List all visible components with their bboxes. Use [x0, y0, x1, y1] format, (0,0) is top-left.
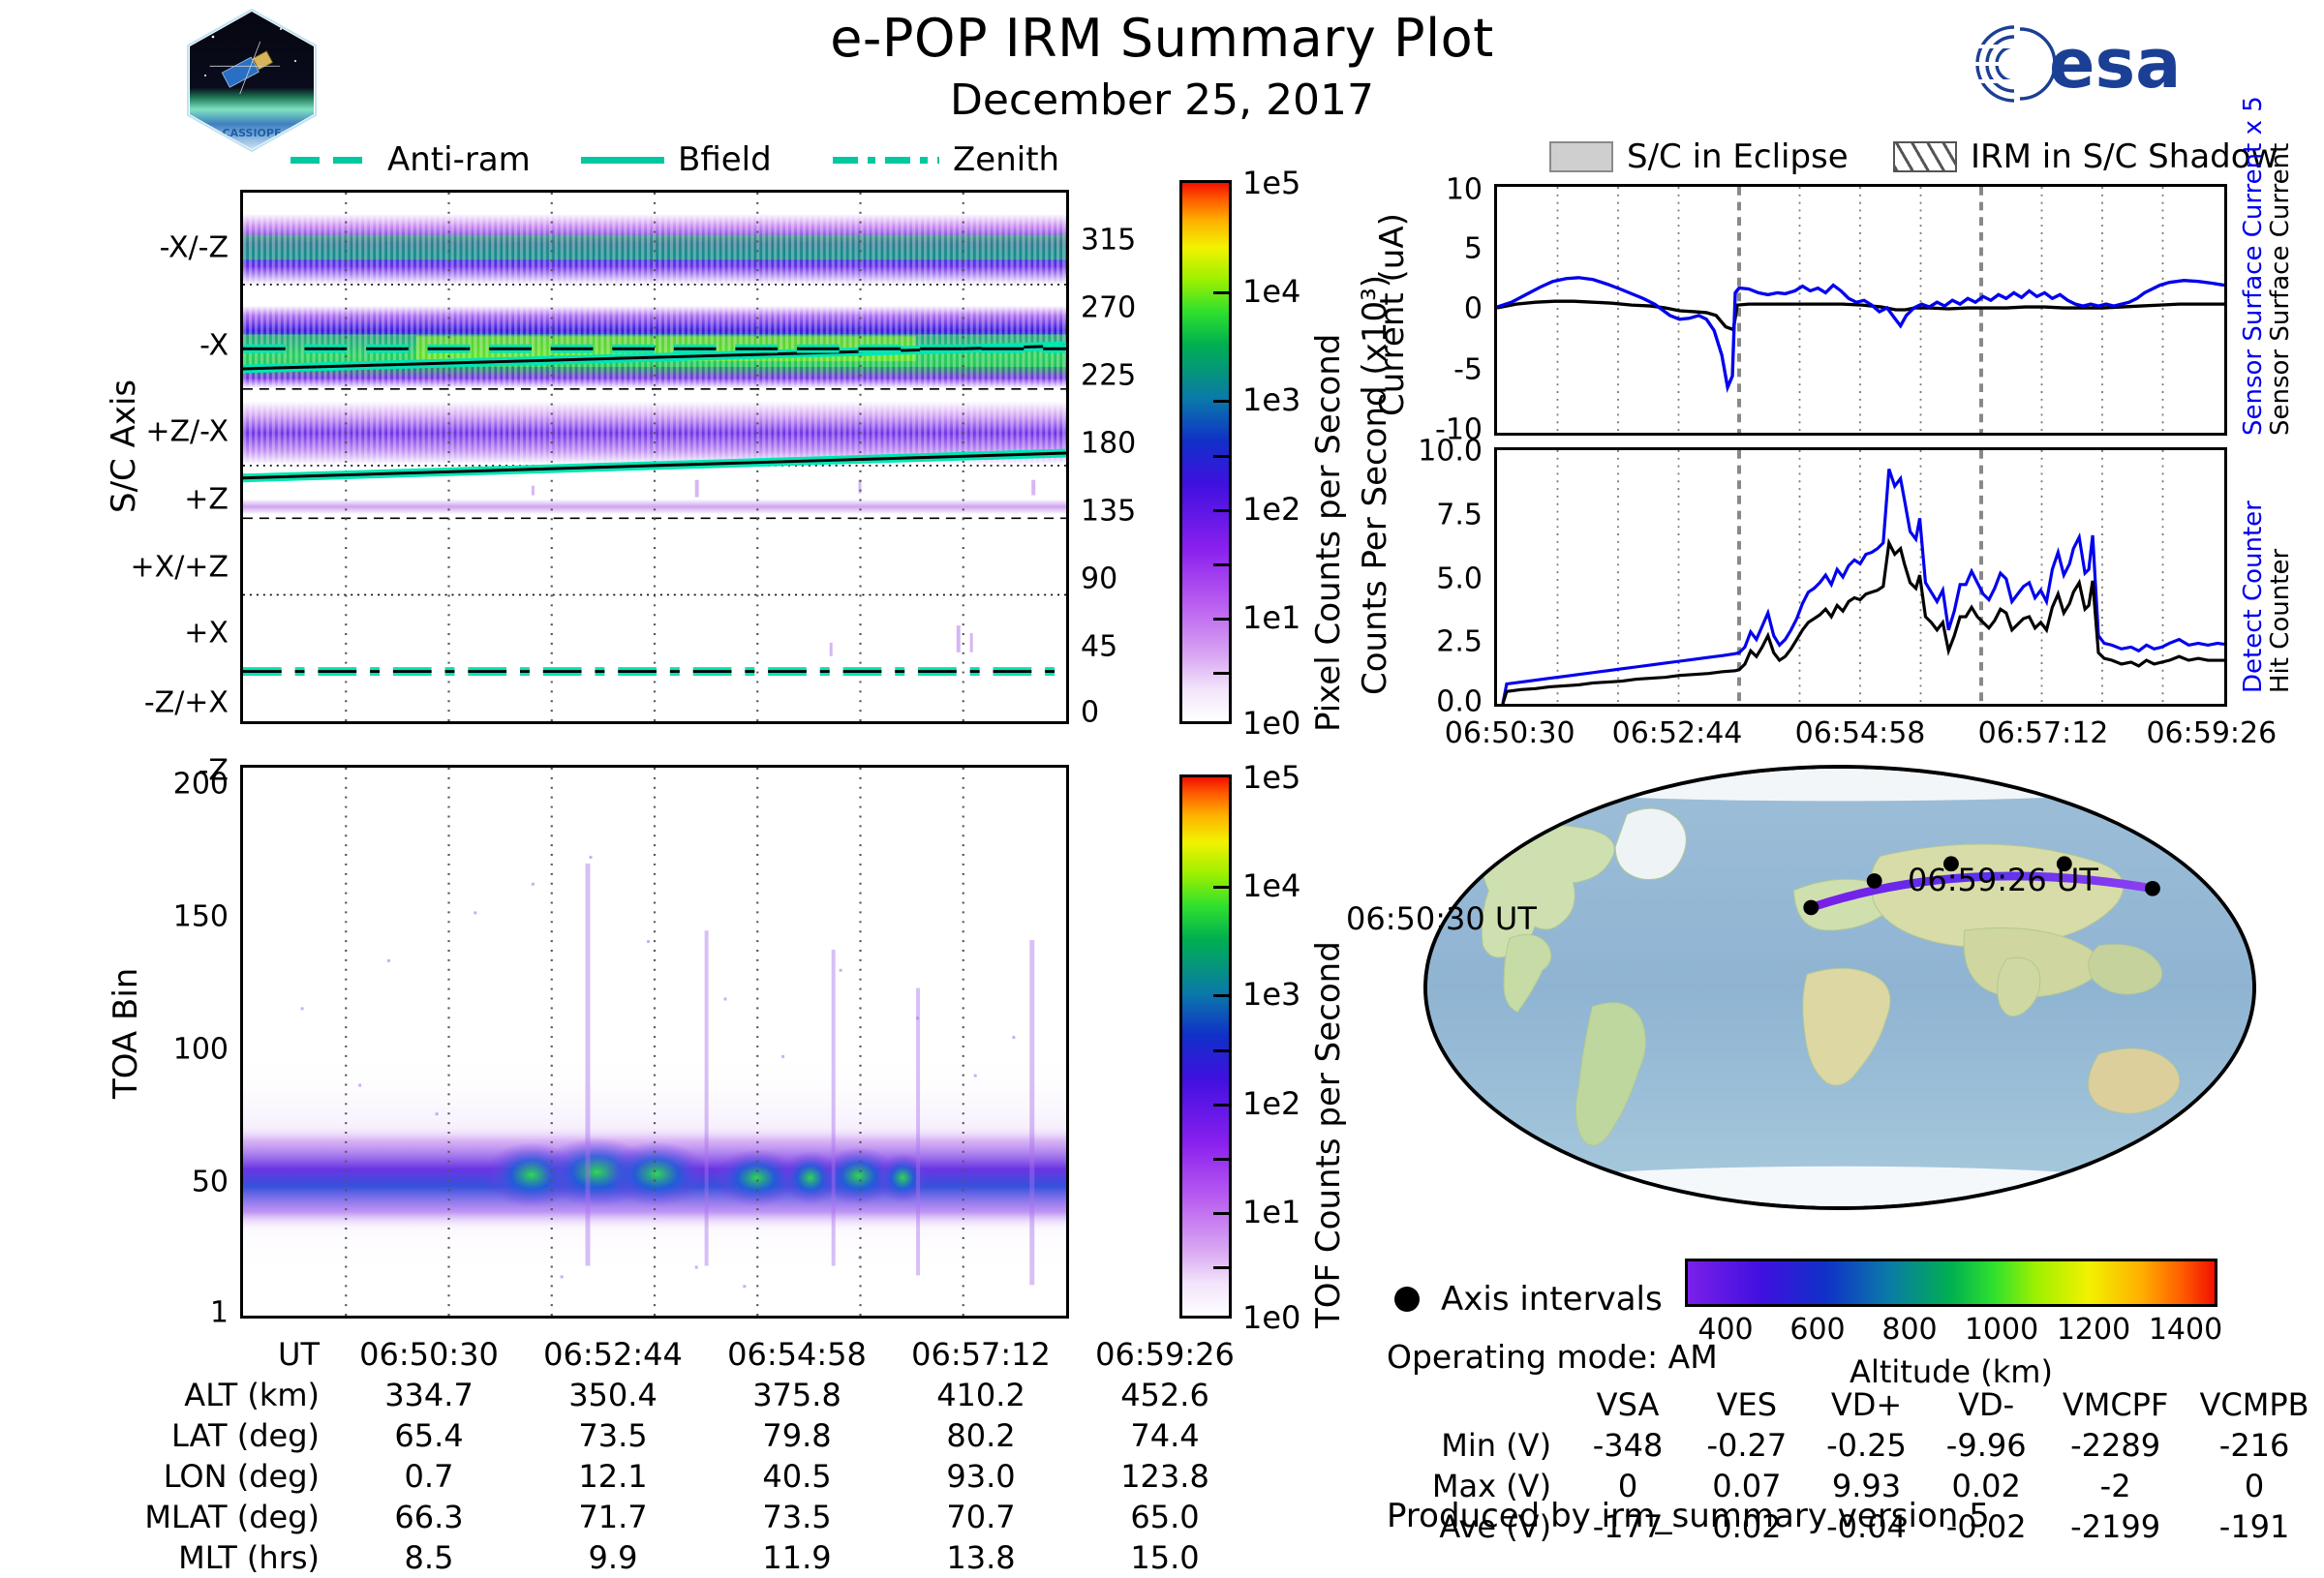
- mlat-4: 65.0: [1073, 1497, 1257, 1537]
- table-row: MLT (hrs) 8.5 9.9 11.9 13.8 15.0: [116, 1537, 1257, 1578]
- legend-label-eclipse: S/C in Eclipse: [1627, 137, 1849, 176]
- altitude-colorbar-ticks: 400 600 800 1000 1200 1400: [1685, 1313, 2217, 1351]
- alt-4: 452.6: [1073, 1375, 1257, 1415]
- pixel-cb-tick-1e5: 1e5: [1229, 165, 1300, 201]
- ut-2: 06:54:58: [705, 1334, 889, 1375]
- alt-tick-800: 800: [1881, 1313, 1937, 1347]
- dash-dot-line-icon: [833, 157, 939, 164]
- counts-right-label-blue: Detect Counter: [2239, 501, 2268, 693]
- alt-tick-400: 400: [1697, 1313, 1753, 1347]
- table-row: LON (deg) 0.7 12.1 40.5 93.0 123.8: [116, 1456, 1257, 1497]
- toa-ylabel: TOA Bin: [107, 968, 145, 1099]
- pixel-colorbar-label: Pixel Counts per Second: [1309, 334, 1348, 732]
- table-row: LAT (deg) 65.4 73.5 79.8 80.2 74.4: [116, 1415, 1257, 1456]
- lat-3: 80.2: [889, 1415, 1073, 1456]
- current-ytick-m5: -5: [1453, 353, 1494, 387]
- tof-colorbar-label: TOF Counts per Second: [1309, 941, 1348, 1328]
- pixel-angle-tick-45: 45: [1069, 630, 1117, 664]
- row-label-mlat: MLAT (deg): [116, 1497, 337, 1537]
- lat-0: 65.4: [337, 1415, 521, 1456]
- legend-axis-intervals: Axis intervals: [1394, 1280, 1663, 1319]
- alt-tick-600: 600: [1789, 1313, 1845, 1347]
- gray-swatch-icon: [1549, 141, 1613, 172]
- legend-label-anti-ram: Anti-ram: [387, 140, 531, 179]
- col-vcmpb: VCMPB: [2185, 1384, 2324, 1425]
- mlat-1: 71.7: [521, 1497, 705, 1537]
- ut-3: 06:57:12: [889, 1334, 1073, 1375]
- col-vsa: VSA: [1569, 1384, 1687, 1425]
- counts-ytick-2p5: 2.5: [1436, 625, 1494, 659]
- mlat-0: 66.3: [337, 1497, 521, 1537]
- pixel-angle-tick-180: 180: [1069, 427, 1136, 461]
- alt-1: 350.4: [521, 1375, 705, 1415]
- ave-vmcpf: -2199: [2046, 1506, 2185, 1547]
- counts-ytick-10: 10.0: [1418, 435, 1494, 469]
- toa-scatter-canvas: [243, 768, 1066, 1316]
- min-vmcpf: -2289: [2046, 1425, 2185, 1466]
- toa-ytick-100: 100: [173, 1033, 240, 1067]
- pixel-ytick-4: +X/+Z: [131, 551, 240, 585]
- pixel-ytick-1: -X: [199, 329, 240, 363]
- table-row: ALT (km) 334.7 350.4 375.8 410.2 452.6: [116, 1375, 1257, 1415]
- tof-cb-tick-1e3: 1e3: [1229, 976, 1300, 1013]
- row-label-alt: ALT (km): [116, 1375, 337, 1415]
- altitude-colorbar: [1685, 1259, 2217, 1307]
- counts-per-second-panel: 10.0 7.5 5.0 2.5 0.0 06:50:30 06:52:44 0…: [1494, 447, 2227, 707]
- pixel-cb-tick-1e4: 1e4: [1229, 273, 1300, 310]
- tof-cb-tick-1e1: 1e1: [1229, 1194, 1300, 1230]
- ave-vcmpb: -191: [2185, 1506, 2324, 1547]
- ut-1: 06:52:44: [521, 1334, 705, 1375]
- mlat-3: 70.7: [889, 1497, 1073, 1537]
- alt-3: 410.2: [889, 1375, 1073, 1415]
- lon-3: 93.0: [889, 1456, 1073, 1497]
- mlt-4: 15.0: [1073, 1537, 1257, 1578]
- lon-1: 12.1: [521, 1456, 705, 1497]
- toa-ytick-1: 1: [210, 1296, 240, 1330]
- lat-2: 79.8: [705, 1415, 889, 1456]
- current-right-label-black: Sensor Surface Current: [2266, 143, 2295, 436]
- legend-irm-shadow: IRM in S/C Shadow: [1893, 137, 2278, 176]
- mlt-2: 11.9: [705, 1537, 889, 1578]
- dashed-line-icon: [290, 157, 374, 164]
- counts-xtick-3: 06:57:12: [1978, 707, 2109, 750]
- legend-label-shadow: IRM in S/C Shadow: [1971, 137, 2278, 176]
- counts-right-label-black: Hit Counter: [2266, 549, 2295, 693]
- dot-marker-icon: [1394, 1287, 1420, 1312]
- current-ytick-0: 0: [1464, 292, 1494, 326]
- toa-ytick-50: 50: [192, 1166, 240, 1199]
- pixel-ylabel-left: S/C Axis: [105, 379, 143, 513]
- current-right-label-blue: Sensor Surface Current x 5: [2239, 96, 2268, 436]
- min-vdminus: -9.96: [1926, 1425, 2046, 1466]
- tof-cb-tick-1e4: 1e4: [1229, 867, 1300, 904]
- mlt-3: 13.8: [889, 1537, 1073, 1578]
- solid-line-icon: [581, 157, 664, 164]
- pixel-angle-tick-135: 135: [1069, 495, 1136, 529]
- tof-cb-tick-1e0: 1e0: [1229, 1299, 1300, 1336]
- counts-xtick-2: 06:54:58: [1795, 707, 1926, 750]
- max-vcmpb: 0: [2185, 1466, 2324, 1506]
- min-vdplus: -0.25: [1807, 1425, 1927, 1466]
- mlat-2: 73.5: [705, 1497, 889, 1537]
- toa-ytick-200: 200: [173, 768, 240, 802]
- legend-anti-ram: Anti-ram: [290, 140, 531, 179]
- tof-cb-tick-1e2: 1e2: [1229, 1085, 1300, 1122]
- pixel-ytick-2: +Z/-X: [145, 415, 240, 449]
- pixel-ytick-5: +X: [184, 617, 240, 651]
- counts-xtick-0: 06:50:30: [1445, 707, 1575, 750]
- pixel-cb-tick-1e1: 1e1: [1229, 599, 1300, 636]
- legend-label-bfield: Bfield: [678, 140, 772, 179]
- min-ves: -0.27: [1687, 1425, 1807, 1466]
- lon-2: 40.5: [705, 1456, 889, 1497]
- tof-cb-tick-1e5: 1e5: [1229, 759, 1300, 796]
- pixel-angle-tick-90: 90: [1069, 562, 1117, 596]
- pixel-angle-tick-225: 225: [1069, 359, 1136, 393]
- map-start-time-label: 06:50:30 UT: [1346, 900, 1537, 937]
- pixel-counts-colorbar: 1e5 1e4 1e3 1e2 1e1 1e0: [1179, 180, 1232, 724]
- pixel-ytick-0: -X/-Z: [160, 231, 240, 265]
- col-vdplus: VD+: [1807, 1384, 1927, 1425]
- alt-tick-1400: 1400: [2149, 1313, 2222, 1347]
- sensor-current-panel: 10 5 0 -5 -10: [1494, 184, 2227, 436]
- max-vmcpf: -2: [2046, 1466, 2185, 1506]
- footer-produced-by: Produced by irm_summary version 5: [1387, 1497, 1990, 1535]
- col-ves: VES: [1687, 1384, 1807, 1425]
- current-trace-canvas: [1497, 187, 2224, 433]
- lon-0: 0.7: [337, 1456, 521, 1497]
- ut-0: 06:50:30: [337, 1334, 521, 1375]
- ephemeris-table: UT 06:50:30 06:52:44 06:54:58 06:57:12 0…: [116, 1334, 1257, 1578]
- row-label-mlt: MLT (hrs): [116, 1537, 337, 1578]
- lat-1: 73.5: [521, 1415, 705, 1456]
- toa-ytick-150: 150: [173, 900, 240, 934]
- orbit-ground-track-map: 06:50:30 UT 06:59:26 UT: [1423, 765, 2256, 1210]
- legend-zenith: Zenith: [833, 140, 1059, 179]
- counts-trace-canvas: [1497, 450, 2224, 704]
- world-map-canvas: [1427, 769, 2252, 1206]
- alt-0: 334.7: [337, 1375, 521, 1415]
- counts-xtick-1: 06:52:44: [1612, 707, 1743, 750]
- row-label-lon: LON (deg): [116, 1456, 337, 1497]
- legend-label-zenith: Zenith: [953, 140, 1059, 179]
- table-row: UT 06:50:30 06:52:44 06:54:58 06:57:12 0…: [116, 1334, 1257, 1375]
- operating-mode-label: Operating mode: AM: [1387, 1338, 1718, 1376]
- pixel-cb-tick-1e3: 1e3: [1229, 381, 1300, 418]
- pixel-cb-tick-1e0: 1e0: [1229, 705, 1300, 742]
- min-vsa: -348: [1569, 1425, 1687, 1466]
- tof-counts-colorbar: 1e5 1e4 1e3 1e2 1e1 1e0: [1179, 774, 1232, 1319]
- pixel-heatmap-canvas: [243, 193, 1066, 721]
- cassiope-mission-patch-icon: CASSIOPE: [184, 8, 320, 153]
- counts-xtick-4: 06:59:26: [2146, 707, 2277, 750]
- current-ytick-5: 5: [1464, 232, 1494, 266]
- col-vmcpf: VMCPF: [2046, 1384, 2185, 1425]
- lat-4: 74.4: [1073, 1415, 1257, 1456]
- table-header-row: VSA VES VD+ VD- VMCPF VCMPB: [1385, 1384, 2324, 1425]
- hatched-swatch-icon: [1893, 141, 1957, 172]
- lon-4: 123.8: [1073, 1456, 1257, 1497]
- table-row: Min (V) -348 -0.27 -0.25 -9.96 -2289 -21…: [1385, 1425, 2324, 1466]
- legend-sc-eclipse: S/C in Eclipse: [1549, 137, 1849, 176]
- alt-2: 375.8: [705, 1375, 889, 1415]
- pixel-angle-tick-315: 315: [1069, 224, 1136, 258]
- alt-tick-1000: 1000: [1965, 1313, 2038, 1347]
- mlt-1: 9.9: [521, 1537, 705, 1578]
- counts-ytick-7p5: 7.5: [1436, 499, 1494, 532]
- pixel-counts-panel: -X/-Z -X +Z/-X +Z +X/+Z +X -Z/+X -Z 315 …: [240, 190, 1069, 724]
- row-label-ut: UT: [116, 1334, 337, 1375]
- pixel-ytick-6: -Z/+X: [144, 686, 240, 720]
- legend-bfield: Bfield: [581, 140, 772, 179]
- row-label-lat: LAT (deg): [116, 1415, 337, 1456]
- svg-text:esa: esa: [2049, 24, 2181, 104]
- pixel-cb-tick-1e2: 1e2: [1229, 491, 1300, 528]
- pixel-angle-tick-0: 0: [1069, 696, 1099, 730]
- ut-4: 06:59:26: [1073, 1334, 1257, 1375]
- col-vdminus: VD-: [1926, 1384, 2046, 1425]
- min-vcmpb: -216: [2185, 1425, 2324, 1466]
- legend-label-axis-intervals: Axis intervals: [1441, 1280, 1663, 1319]
- map-end-time-label: 06:59:26 UT: [1908, 862, 2098, 898]
- counts-ytick-5: 5.0: [1436, 562, 1494, 596]
- toa-bin-panel: 200 150 100 50 1: [240, 765, 1069, 1319]
- esa-logo-icon: esa: [1966, 17, 2247, 109]
- table-row: MLAT (deg) 66.3 71.7 73.5 70.7 65.0: [116, 1497, 1257, 1537]
- counts-ylabel: Counts Per Second (x10³): [1356, 275, 1394, 695]
- pixel-angle-tick-270: 270: [1069, 291, 1136, 325]
- mlt-0: 8.5: [337, 1537, 521, 1578]
- current-ytick-10: 10: [1446, 173, 1494, 207]
- alt-tick-1200: 1200: [2057, 1313, 2130, 1347]
- row-label-min: Min (V): [1385, 1425, 1569, 1466]
- pixel-ytick-3: +Z: [184, 483, 240, 517]
